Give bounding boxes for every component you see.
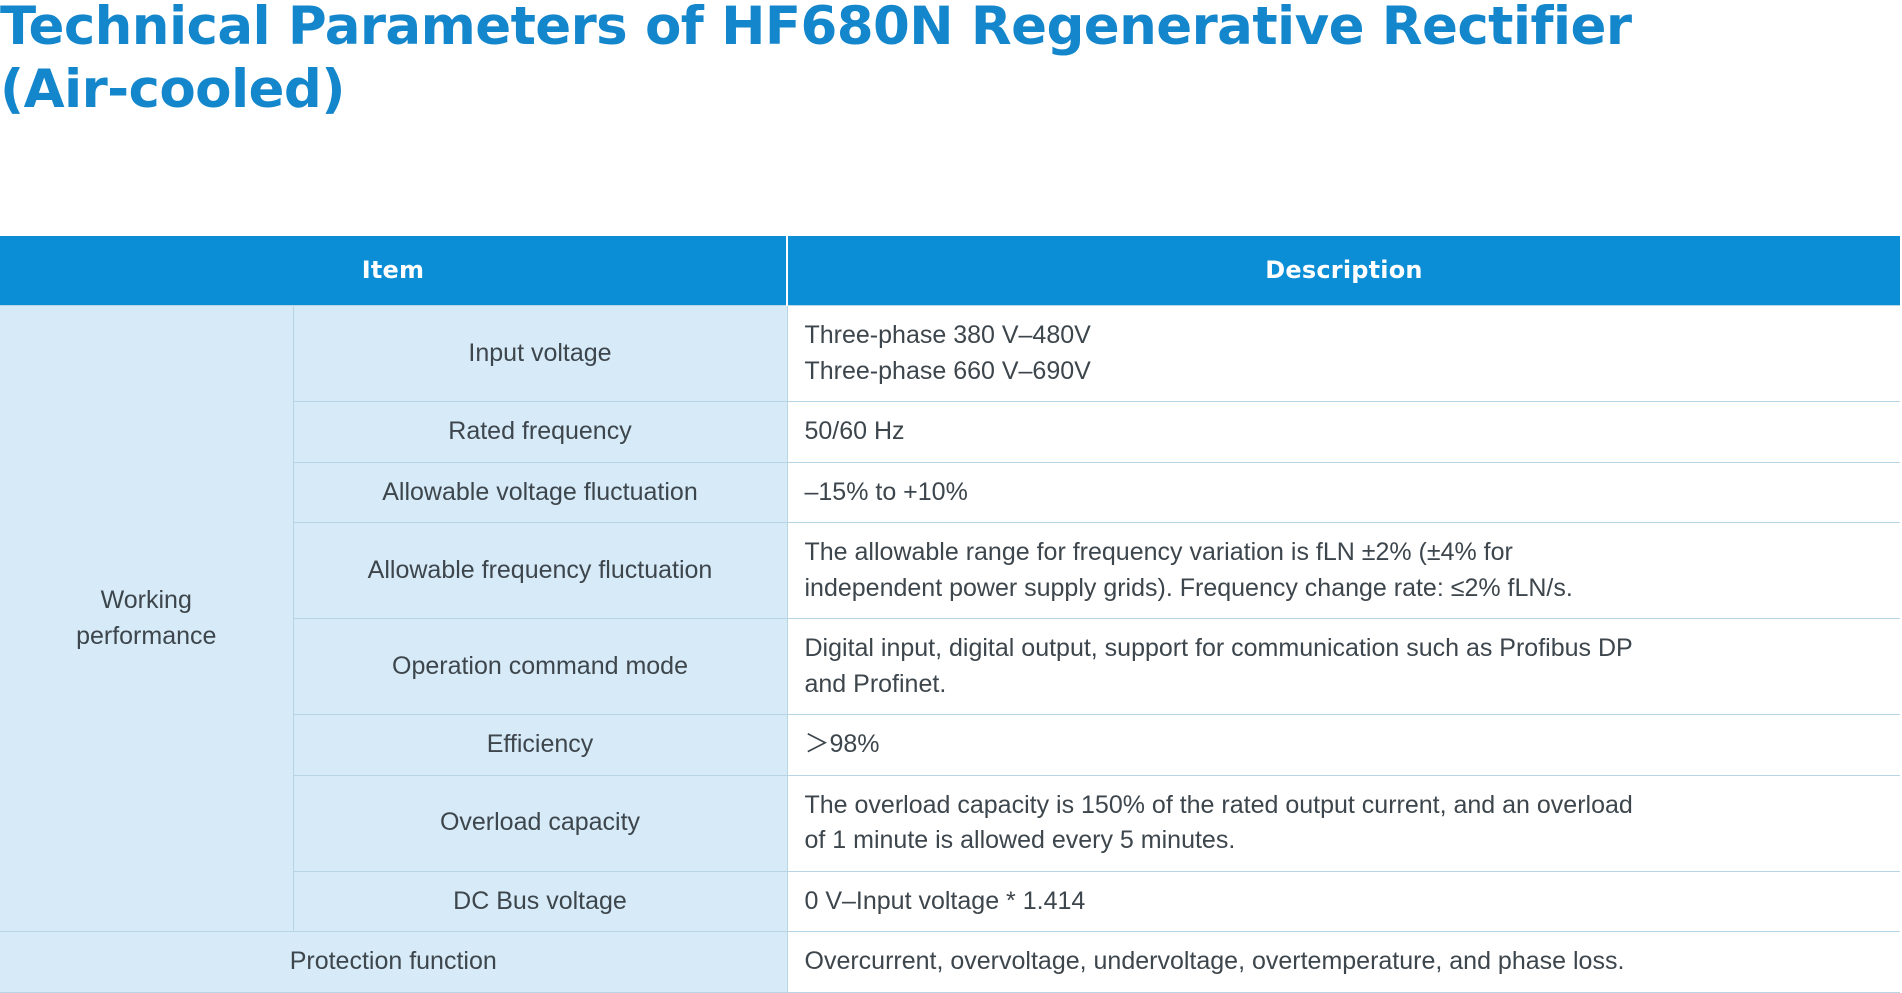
description-overload-capacity: The overload capacity is 150% of the rat…: [787, 775, 1900, 871]
table-header: Item Description: [0, 236, 1900, 306]
description-line: The overload capacity is 150% of the rat…: [805, 788, 1901, 824]
column-header-description: Description: [787, 236, 1900, 306]
item-label-allowable-voltage-fluctuation: Allowable voltage fluctuation: [293, 462, 787, 523]
description-rated-frequency: 50/60 Hz: [787, 402, 1900, 463]
item-label-allowable-frequency-fluctuation: Allowable frequency fluctuation: [293, 523, 787, 619]
column-header-item: Item: [0, 236, 787, 306]
item-label-overload-capacity: Overload capacity: [293, 775, 787, 871]
table-body: Working performance Input voltage Three-…: [0, 306, 1900, 993]
description-line: –15% to +10%: [805, 475, 1901, 511]
group-label-working-performance: Working performance: [0, 306, 293, 932]
table-row: Protection function Overcurrent, overvol…: [0, 932, 1900, 993]
table-row: Working performance Input voltage Three-…: [0, 306, 1900, 402]
description-allowable-frequency-fluctuation: The allowable range for frequency variat…: [787, 523, 1900, 619]
description-line: of 1 minute is allowed every 5 minutes.: [805, 823, 1901, 859]
description-line: Digital input, digital output, support f…: [805, 631, 1901, 667]
description-line: The allowable range for frequency variat…: [805, 535, 1901, 571]
description-line: 50/60 Hz: [805, 414, 1901, 450]
description-operation-command-mode: Digital input, digital output, support f…: [787, 619, 1900, 715]
description-line: Three-phase 380 V–480V: [805, 318, 1901, 354]
item-label-operation-command-mode: Operation command mode: [293, 619, 787, 715]
description-line: Overcurrent, overvoltage, undervoltage, …: [805, 944, 1901, 980]
description-line: ＞98%: [805, 727, 1901, 763]
item-label-rated-frequency: Rated frequency: [293, 402, 787, 463]
description-line: Three-phase 660 V–690V: [805, 354, 1901, 390]
technical-parameters-table: Item Description Working performance Inp…: [0, 236, 1900, 993]
document-page: Technical Parameters of HF680N Regenerat…: [0, 0, 1902, 925]
description-allowable-voltage-fluctuation: –15% to +10%: [787, 462, 1900, 523]
description-line: 0 V–Input voltage * 1.414: [805, 884, 1901, 920]
description-line: and Profinet.: [805, 667, 1901, 703]
item-label-efficiency: Efficiency: [293, 715, 787, 776]
description-efficiency: ＞98%: [787, 715, 1900, 776]
page-title: Technical Parameters of HF680N Regenerat…: [0, 0, 1810, 121]
table-header-row: Item Description: [0, 236, 1900, 306]
description-dc-bus-voltage: 0 V–Input voltage * 1.414: [787, 871, 1900, 932]
item-label-protection-function: Protection function: [0, 932, 787, 993]
item-label-dc-bus-voltage: DC Bus voltage: [293, 871, 787, 932]
item-label-input-voltage: Input voltage: [293, 306, 787, 402]
description-line: independent power supply grids). Frequen…: [805, 571, 1901, 607]
description-input-voltage: Three-phase 380 V–480V Three-phase 660 V…: [787, 306, 1900, 402]
description-protection-function: Overcurrent, overvoltage, undervoltage, …: [787, 932, 1900, 993]
